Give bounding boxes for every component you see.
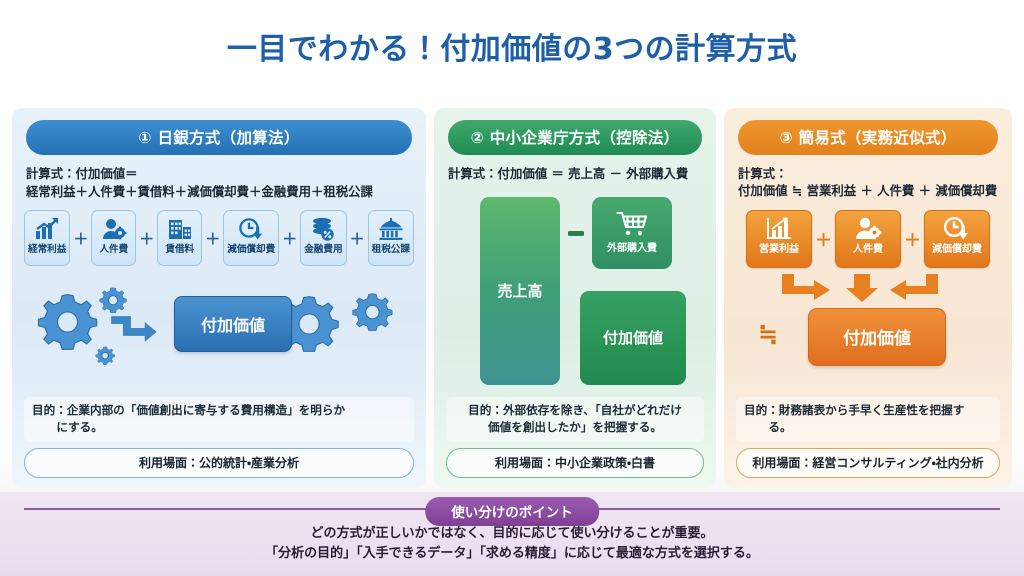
footer-summary: 使い分けのポイント どの方式が正しいかではなく、目的に応じて使い分けることが重要… xyxy=(0,492,1024,576)
kan-i-result-row: ≒ 付加価値 xyxy=(736,304,1000,370)
purpose-text: 目的：財務諸表から手早く生産性を把握す xyxy=(744,403,964,417)
footer-line-2: 「分析の目的」「入手できるデータ」「求める精度」に応じて最適な方式を選択する。 xyxy=(0,544,1024,564)
kan-i-component-chips: 営業利益 ＋ 人件費 ＋ xyxy=(736,210,1000,268)
kan-i-purpose: 目的：財務諸表から手早く生産性を把握す る。 xyxy=(736,397,1000,442)
panel-nichigin-formula: 計算式：付加価値＝ 経常利益＋人件費＋賃借料＋減価償却費＋金融費用＋租税公課 xyxy=(26,165,412,200)
bar-chart-icon xyxy=(765,215,793,243)
page-title: 一目でわかる！付加価値の3つの計算方式 xyxy=(227,24,797,68)
footer-text: どの方式が正しいかではなく、目的に応じて使い分けることが重要。 「分析の目的」「… xyxy=(0,524,1024,564)
chip-keijo-rieki[interactable]: 経常利益 xyxy=(24,210,70,266)
purpose-text-cont: る。 xyxy=(744,419,992,436)
plus-operator: ＋ xyxy=(73,228,88,249)
nichigin-usage: 利用場面：公的統計・産業分析 xyxy=(24,448,414,478)
footer-line-1: どの方式が正しいかではなく、目的に応じて使い分けることが重要。 xyxy=(0,524,1024,544)
chip-label: 営業利益 xyxy=(759,245,799,255)
chip-label: 減価償却費 xyxy=(227,245,275,255)
chusho-bar-diagram: 売上高 外部購入費 付加価値 xyxy=(446,193,704,389)
person-gear-icon xyxy=(854,215,882,243)
purpose-text-cont: にする。 xyxy=(32,419,406,436)
chip-label: 賃借料 xyxy=(165,245,194,255)
chip-label: 金融費用 xyxy=(304,245,342,255)
clock-arrow-down-icon xyxy=(943,215,971,243)
nichigin-result-box: 付加価値 xyxy=(174,296,292,352)
plus-operator: ＋ xyxy=(282,228,297,249)
government-building-icon xyxy=(378,215,404,243)
kan-i-converging-arrows xyxy=(736,274,1000,304)
panel-kan-i-header: ③ 簡易式（実務近似式） xyxy=(738,120,998,155)
chusho-result-box: 付加価値 xyxy=(580,291,686,385)
chip-jinkenhi[interactable]: 人件費 xyxy=(835,210,901,268)
kan-i-usage: 利用場面：経営コンサルティング・社内分析 xyxy=(736,448,1000,478)
chip-eigyo-rieki[interactable]: 営業利益 xyxy=(746,210,812,268)
panel-chusho-formula: 計算式：付加価値 ＝ 売上高 － 外部購入費 xyxy=(448,165,702,183)
panel-kan-i: ③ 簡易式（実務近似式） 計算式： 付加価値 ≒ 営業利益 ＋ 人件費 ＋ 減価… xyxy=(724,108,1012,488)
shopping-cart-icon xyxy=(616,211,648,237)
chip-label: 人件費 xyxy=(99,245,128,255)
panel-nichigin-header: ① 日銀方式（加算法） xyxy=(26,120,412,155)
chart-growth-icon xyxy=(34,215,60,243)
plus-operator: ＋ xyxy=(815,226,832,251)
methods-panel-row: ① 日銀方式（加算法） 計算式：付加価値＝ 経常利益＋人件費＋賃借料＋減価償却費… xyxy=(12,108,1012,488)
nichigin-component-chips: 経常利益 ＋ 人件費 ＋ xyxy=(24,210,414,266)
kan-i-result-box: 付加価値 xyxy=(808,308,946,366)
purpose-text: 目的：企業内部の「価値創出に寄与する費用構造」を明らか xyxy=(32,403,345,417)
process-arrow-icon xyxy=(111,316,157,342)
converging-arrows-graphic xyxy=(736,274,1000,304)
chip-label: 経常利益 xyxy=(28,245,66,255)
chip-chinshakuryo[interactable]: 賃借料 xyxy=(157,210,202,266)
formula-line-1: 計算式： xyxy=(738,165,998,182)
chip-label: 人件費 xyxy=(853,245,883,255)
clock-arrow-down-icon xyxy=(238,215,264,243)
coins-percent-icon xyxy=(310,215,336,243)
chip-genka-shokyakuhi[interactable]: 減価償却費 xyxy=(924,210,990,268)
formula-line-1: 計算式：付加価値＝ xyxy=(26,165,412,183)
panel-chusho: ② 中小企業庁方式（控除法） 計算式：付加価値 ＝ 売上高 － 外部購入費 売上… xyxy=(434,108,716,488)
chip-label: 租税公課 xyxy=(372,245,410,255)
chip-label: 減価償却費 xyxy=(932,245,982,255)
purpose-text-cont: 価値を創出したか」を把握する。 xyxy=(454,419,696,436)
approx-equal-symbol: ≒ xyxy=(758,320,778,348)
bar-sales: 売上高 xyxy=(480,197,560,385)
chip-kinyu-hiyo[interactable]: 金融費用 xyxy=(300,210,346,266)
footer-badge: 使い分けのポイント xyxy=(425,497,599,526)
formula-line-1: 計算式：付加価値 ＝ 売上高 － 外部購入費 xyxy=(448,165,702,183)
formula-line-2: 付加価値 ≒ 営業利益 ＋ 人件費 ＋ 減価償却費 xyxy=(738,182,998,199)
chusho-purpose: 目的：外部依存を除き、「自社がどれだけ 価値を創出したか」を把握する。 xyxy=(446,397,704,442)
plus-operator: ＋ xyxy=(904,226,921,251)
nichigin-gear-diagram: 付加価値 xyxy=(24,276,414,372)
plus-operator: ＋ xyxy=(139,228,154,249)
plus-operator: ＋ xyxy=(350,228,365,249)
chip-jinkenhi[interactable]: 人件費 xyxy=(91,210,136,266)
purpose-text: 目的：外部依存を除き、「自社がどれだけ xyxy=(468,403,682,417)
bar-external-purchase: 外部購入費 xyxy=(592,197,672,269)
panel-nichigin: ① 日銀方式（加算法） 計算式：付加価値＝ 経常利益＋人件費＋賃借料＋減価償却費… xyxy=(12,108,426,488)
building-icon xyxy=(167,215,193,243)
panel-kan-i-formula: 計算式： 付加価値 ≒ 営業利益 ＋ 人件費 ＋ 減価償却費 xyxy=(738,165,998,200)
chusho-usage: 利用場面：中小企業政策・白書 xyxy=(446,448,704,478)
person-gear-icon xyxy=(101,215,127,243)
minus-operator-icon xyxy=(568,231,584,236)
nichigin-purpose: 目的：企業内部の「価値創出に寄与する費用構造」を明らか にする。 xyxy=(24,397,414,442)
chip-genka-shokyakuhi[interactable]: 減価償却費 xyxy=(223,210,279,266)
panel-chusho-header: ② 中小企業庁方式（控除法） xyxy=(448,120,702,155)
formula-line-2: 経常利益＋人件費＋賃借料＋減価償却費＋金融費用＋租税公課 xyxy=(26,183,412,201)
plus-operator: ＋ xyxy=(205,228,220,249)
chip-sozei-koka[interactable]: 租税公課 xyxy=(368,210,414,266)
bar-purchase-label: 外部購入費 xyxy=(607,239,657,254)
title-bar: 一目でわかる！付加価値の3つの計算方式 xyxy=(0,0,1024,92)
